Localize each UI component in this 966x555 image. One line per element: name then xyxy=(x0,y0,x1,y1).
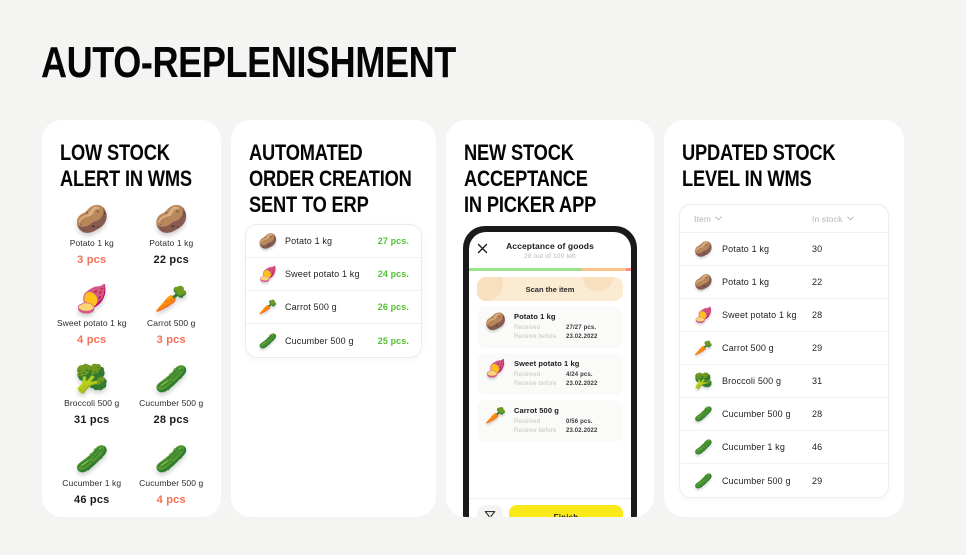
order-list: 🥔 Potato 1 kg 27 pcs. 🍠 Sweet potato 1 k… xyxy=(245,224,422,358)
stock-item-name: Potato 1 kg xyxy=(722,244,812,254)
product-image-icon: 🥒 xyxy=(132,362,212,396)
product-tile[interactable]: 🥔 Potato 1 kg 22 pcs xyxy=(132,198,212,270)
stock-table-body: 🥔 Potato 1 kg 30 🥔 Potato 1 kg 22 🍠 Swee… xyxy=(680,233,888,497)
card-title-automated-order: AUTOMATED ORDER CREATION SENT TO ERP xyxy=(249,140,412,218)
product-image-icon: 🥒 xyxy=(694,405,722,423)
product-image-icon: 🥔 xyxy=(52,202,132,236)
product-name: Potato 1 kg xyxy=(52,236,132,250)
product-quantity: 3 pcs xyxy=(132,330,212,350)
product-tile[interactable]: 🥒 Cucumber 500 g 4 pcs xyxy=(132,438,212,510)
order-item-quantity: 26 pcs. xyxy=(378,302,409,312)
chevron-down-icon xyxy=(715,216,722,221)
column-header-in-stock-label: In stock xyxy=(812,214,843,224)
order-item-quantity: 25 pcs. xyxy=(378,336,409,346)
title-line: IN PICKER APP xyxy=(464,192,596,218)
column-header-item-label: Item xyxy=(694,214,711,224)
acceptance-item[interactable]: 🥕 Carrot 500 g Received0/56 pcs. Receive… xyxy=(477,400,623,442)
phone-subtitle: 28 out of 100 left xyxy=(477,253,623,260)
table-row[interactable]: 🥔 Potato 1 kg 30 xyxy=(680,233,888,266)
title-line: LOW STOCK xyxy=(60,140,192,166)
finish-button[interactable]: Finish xyxy=(509,505,623,518)
stock-item-value: 46 xyxy=(812,442,874,452)
phone-screen: Acceptance of goods 28 out of 100 left S… xyxy=(469,232,631,517)
table-row[interactable]: 🥒 Cucumber 500 g 29 xyxy=(680,464,888,497)
title-line: SENT TO ERP xyxy=(249,192,412,218)
product-name: Cucumber 1 kg xyxy=(52,476,132,490)
stock-item-name: Cucumber 500 g xyxy=(722,409,812,419)
acceptance-item[interactable]: 🍠 Sweet potato 1 kg Received4/24 pcs. Re… xyxy=(477,353,623,395)
acceptance-item-name: Sweet potato 1 kg xyxy=(514,359,616,368)
product-tile[interactable]: 🥒 Cucumber 500 g 28 pcs xyxy=(132,358,212,430)
filter-icon xyxy=(484,509,496,518)
product-image-icon: 🥕 xyxy=(484,406,508,436)
product-quantity: 22 pcs xyxy=(132,250,212,270)
card-updated-stock-level: UPDATED STOCK LEVEL IN WMS Item In stock xyxy=(664,120,904,517)
table-row[interactable]: 🥒 Cucumber 1 kg 46 xyxy=(680,431,888,464)
product-image-icon: 🥔 xyxy=(694,240,722,258)
receive-before-value: 23.02.2022 xyxy=(566,380,598,389)
product-name: Cucumber 500 g xyxy=(132,476,212,490)
page-title: AUTO-REPLENISHMENT xyxy=(41,38,456,88)
title-line: ACCEPTANCE xyxy=(464,166,596,192)
product-image-icon: 🥔 xyxy=(132,202,212,236)
received-value: 4/24 pcs. xyxy=(566,371,593,380)
progress-segment xyxy=(582,268,626,271)
receive-before-value: 23.02.2022 xyxy=(566,427,598,436)
scan-item-button[interactable]: Scan the item xyxy=(477,277,623,301)
received-value: 27/27 pcs. xyxy=(566,324,596,333)
acceptance-item-list: 🥔 Potato 1 kg Received27/27 pcs. Receive… xyxy=(477,306,623,442)
product-name: Potato 1 kg xyxy=(132,236,212,250)
order-row[interactable]: 🥕 Carrot 500 g 26 pcs. xyxy=(246,291,421,324)
card-title-updated-stock: UPDATED STOCK LEVEL IN WMS xyxy=(682,140,835,192)
card-automated-order-creation: AUTOMATED ORDER CREATION SENT TO ERP 🥔 P… xyxy=(231,120,436,517)
column-header-in-stock[interactable]: In stock xyxy=(812,214,874,224)
stock-item-name: Carrot 500 g xyxy=(722,343,812,353)
product-name: Carrot 500 g xyxy=(132,316,212,330)
product-image-icon: 🥕 xyxy=(132,282,212,316)
order-item-quantity: 24 pcs. xyxy=(378,269,409,279)
stock-item-value: 22 xyxy=(812,277,874,287)
acceptance-item[interactable]: 🥔 Potato 1 kg Received27/27 pcs. Receive… xyxy=(477,306,623,348)
product-image-icon: 🍠 xyxy=(52,282,132,316)
product-quantity: 28 pcs xyxy=(132,410,212,430)
stock-item-value: 31 xyxy=(812,376,874,386)
received-label: Received xyxy=(514,324,566,333)
product-tile[interactable]: 🥦 Broccoli 500 g 31 pcs xyxy=(52,358,132,430)
slide-root: AUTO-REPLENISHMENT LOW STOCK ALERT IN WM… xyxy=(0,0,966,555)
product-image-icon: 🥔 xyxy=(255,232,281,250)
product-image-icon: 🥦 xyxy=(52,362,132,396)
title-line: ORDER CREATION xyxy=(249,166,412,192)
table-row[interactable]: 🥦 Broccoli 500 g 31 xyxy=(680,365,888,398)
column-header-item[interactable]: Item xyxy=(694,214,812,224)
card-title-low-stock: LOW STOCK ALERT IN WMS xyxy=(60,140,192,192)
stock-item-value: 30 xyxy=(812,244,874,254)
stock-item-name: Cucumber 500 g xyxy=(722,476,812,486)
phone-title: Acceptance of goods xyxy=(477,241,623,251)
stock-item-name: Cucumber 1 kg xyxy=(722,442,812,452)
phone-footer: Finish xyxy=(469,498,631,517)
chevron-down-icon xyxy=(847,216,854,221)
phone-mockup: Acceptance of goods 28 out of 100 left S… xyxy=(463,226,637,517)
order-item-name: Sweet potato 1 kg xyxy=(281,269,378,279)
product-quantity: 46 pcs xyxy=(52,490,132,510)
stock-item-value: 28 xyxy=(812,409,874,419)
title-line: UPDATED STOCK xyxy=(682,140,835,166)
product-tile[interactable]: 🥒 Cucumber 1 kg 46 pcs xyxy=(52,438,132,510)
title-line: AUTOMATED xyxy=(249,140,412,166)
product-image-icon: 🥕 xyxy=(694,339,722,357)
order-row[interactable]: 🥒 Cucumber 500 g 25 pcs. xyxy=(246,324,421,357)
stock-table: Item In stock 🥔 Potato 1 kg 30 xyxy=(679,204,889,498)
received-label: Received xyxy=(514,371,566,380)
product-quantity: 31 pcs xyxy=(52,410,132,430)
product-name: Broccoli 500 g xyxy=(52,396,132,410)
table-row[interactable]: 🥕 Carrot 500 g 29 xyxy=(680,332,888,365)
card-low-stock-alert: LOW STOCK ALERT IN WMS 🥔 Potato 1 kg 3 p… xyxy=(42,120,221,517)
product-name: Sweet potato 1 kg xyxy=(52,316,132,330)
order-item-name: Potato 1 kg xyxy=(281,236,378,246)
product-tile[interactable]: 🥕 Carrot 500 g 3 pcs xyxy=(132,278,212,350)
product-name: Cucumber 500 g xyxy=(132,396,212,410)
product-image-icon: 🥒 xyxy=(132,442,212,476)
product-image-icon: 🥒 xyxy=(52,442,132,476)
product-grid: 🥔 Potato 1 kg 3 pcs 🥔 Potato 1 kg 22 pcs… xyxy=(52,198,211,510)
receive-before-label: Receive before xyxy=(514,333,566,342)
scan-item-label: Scan the item xyxy=(526,285,575,294)
stock-item-value: 29 xyxy=(812,343,874,353)
cards-row: LOW STOCK ALERT IN WMS 🥔 Potato 1 kg 3 p… xyxy=(42,120,904,517)
product-image-icon: 🍠 xyxy=(484,359,508,389)
product-image-icon: 🥒 xyxy=(255,332,281,350)
stock-table-header: Item In stock xyxy=(680,205,888,233)
product-image-icon: 🥕 xyxy=(255,298,281,316)
receive-before-label: Receive before xyxy=(514,427,566,436)
product-image-icon: 🥔 xyxy=(484,312,508,342)
order-row[interactable]: 🍠 Sweet potato 1 kg 24 pcs. xyxy=(246,258,421,291)
phone-header: Acceptance of goods 28 out of 100 left xyxy=(469,232,631,264)
acceptance-item-name: Potato 1 kg xyxy=(514,312,616,321)
stock-item-name: Sweet potato 1 kg xyxy=(722,310,812,320)
order-item-name: Cucumber 500 g xyxy=(281,336,378,346)
product-tile[interactable]: 🍠 Sweet potato 1 kg 4 pcs xyxy=(52,278,132,350)
received-label: Received xyxy=(514,418,566,427)
product-image-icon: 🥒 xyxy=(694,438,722,456)
order-row[interactable]: 🥔 Potato 1 kg 27 pcs. xyxy=(246,225,421,258)
order-item-quantity: 27 pcs. xyxy=(378,236,409,246)
table-row[interactable]: 🥔 Potato 1 kg 22 xyxy=(680,266,888,299)
filter-button[interactable] xyxy=(477,505,503,518)
acceptance-item-name: Carrot 500 g xyxy=(514,406,616,415)
product-image-icon: 🥔 xyxy=(694,273,722,291)
title-line: ALERT IN WMS xyxy=(60,166,192,192)
product-image-icon: 🥒 xyxy=(694,472,722,490)
product-quantity: 4 pcs xyxy=(52,330,132,350)
progress-segment xyxy=(626,268,631,271)
product-image-icon: 🥦 xyxy=(694,372,722,390)
order-item-name: Carrot 500 g xyxy=(281,302,378,312)
receive-before-label: Receive before xyxy=(514,380,566,389)
received-value: 0/56 pcs. xyxy=(566,418,593,427)
product-quantity: 4 pcs xyxy=(132,490,212,510)
title-line: NEW STOCK xyxy=(464,140,596,166)
product-image-icon: 🍠 xyxy=(255,265,281,283)
card-new-stock-acceptance: NEW STOCK ACCEPTANCE IN PICKER APP Accep… xyxy=(446,120,654,517)
stock-item-name: Potato 1 kg xyxy=(722,277,812,287)
product-tile[interactable]: 🥔 Potato 1 kg 3 pcs xyxy=(52,198,132,270)
stock-item-name: Broccoli 500 g xyxy=(722,376,812,386)
close-icon[interactable] xyxy=(477,243,488,254)
card-title-new-stock: NEW STOCK ACCEPTANCE IN PICKER APP xyxy=(464,140,596,218)
table-row[interactable]: 🍠 Sweet potato 1 kg 28 xyxy=(680,299,888,332)
stock-item-value: 28 xyxy=(812,310,874,320)
product-quantity: 3 pcs xyxy=(52,250,132,270)
progress-segment xyxy=(469,268,582,271)
progress-bar xyxy=(469,268,631,271)
product-image-icon: 🍠 xyxy=(694,306,722,324)
stock-item-value: 29 xyxy=(812,476,874,486)
title-line: LEVEL IN WMS xyxy=(682,166,835,192)
table-row[interactable]: 🥒 Cucumber 500 g 28 xyxy=(680,398,888,431)
receive-before-value: 23.02.2022 xyxy=(566,333,598,342)
